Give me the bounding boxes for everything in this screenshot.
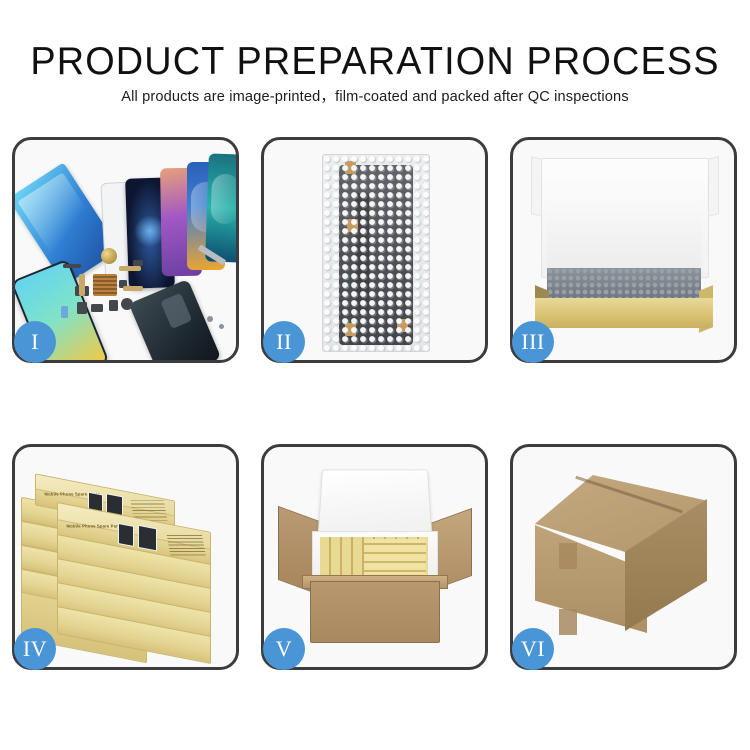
step-badge-3: III [512, 321, 554, 363]
step-badge-6: VI [512, 628, 554, 670]
foam-sheet [547, 196, 701, 278]
screw [219, 324, 224, 329]
box-front-yellow [535, 298, 713, 328]
phone-image-print [138, 525, 157, 552]
small-part [91, 304, 103, 312]
carton-tape-tab [559, 543, 577, 569]
teal-gradient-phone [205, 153, 239, 262]
bubble-texture [323, 155, 429, 351]
vibration-motor-part [101, 248, 117, 264]
carton-front-panel [310, 581, 440, 643]
phone-image-print [118, 523, 134, 547]
step-badge-4: IV [14, 628, 56, 670]
box-label-text: Mobile Phone Spare Parts [66, 523, 122, 528]
small-part [63, 264, 81, 268]
box-spec-lines [166, 533, 206, 555]
flex-cable [79, 274, 85, 296]
box-stack: Mobile Phone Spare Parts Mobile Phone Sp… [21, 467, 231, 657]
bubble-wrapped-contents [547, 268, 701, 302]
step-badge-2: II [263, 321, 305, 363]
small-part [77, 302, 87, 314]
screw [207, 316, 213, 322]
foam-lid [318, 469, 432, 533]
carton-tape-tab [559, 609, 577, 635]
small-part [61, 306, 68, 318]
flex-cable [119, 266, 141, 271]
step-badge-5: V [263, 628, 305, 670]
process-step-grid: Mobile phone screens, displays and spare… [0, 0, 750, 750]
logic-board-chip [93, 274, 117, 296]
small-part [109, 300, 118, 311]
step-badge-1: I [14, 321, 56, 363]
yellow-boxes-inside [364, 539, 426, 579]
bubble-wrap-bag [322, 154, 430, 352]
speaker-part [121, 298, 133, 310]
flex-cable [123, 286, 143, 291]
